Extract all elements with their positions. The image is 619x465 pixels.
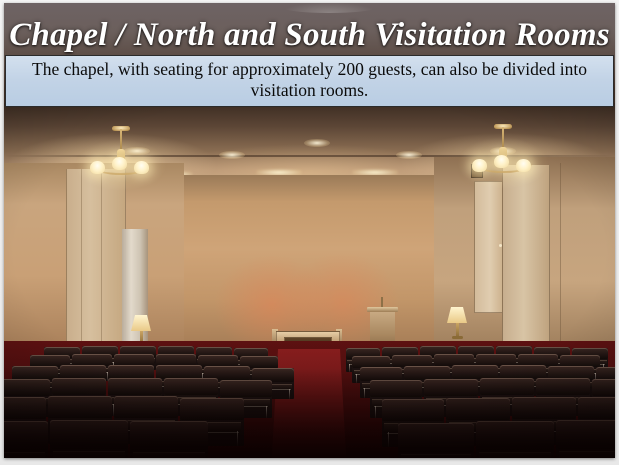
page-title: Chapel / North and South Visitation Room… (0, 17, 619, 53)
chair (50, 420, 128, 458)
chair (398, 423, 474, 458)
chair-rows-left (4, 103, 304, 458)
chair (556, 420, 615, 458)
chair (4, 421, 48, 458)
ceiling-vent (284, 3, 374, 13)
slide: Chapel / North and South Visitation Room… (0, 0, 619, 465)
caption-text: The chapel, with seating for approximate… (16, 59, 603, 101)
chair (130, 421, 208, 458)
chair-rows-right (304, 103, 615, 458)
chapel-room (4, 103, 615, 458)
chair (476, 421, 554, 458)
caption-box: The chapel, with seating for approximate… (5, 55, 614, 107)
